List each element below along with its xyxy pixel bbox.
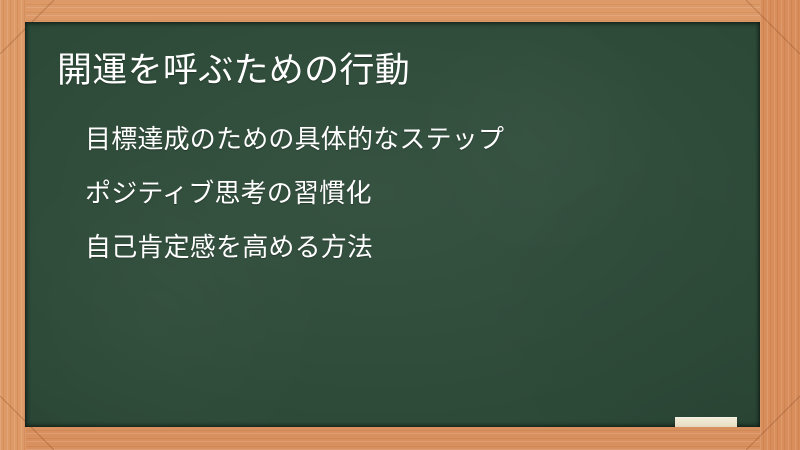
frame-stile-right	[760, 0, 800, 450]
bullet-item-2: ポジティブ思考の習慣化	[85, 180, 504, 206]
slide-title: 開運を呼ぶための行動	[57, 50, 410, 93]
blackboard-slide: 開運を呼ぶための行動 目標達成のための具体的なステップ ポジティブ思考の習慣化 …	[0, 0, 800, 450]
bullet-list: 目標達成のための具体的なステップ ポジティブ思考の習慣化 自己肯定感を高める方法	[85, 126, 504, 288]
frame-rail-top	[0, 0, 800, 24]
bullet-item-3: 自己肯定感を高める方法	[85, 234, 504, 260]
frame-stile-left	[0, 0, 26, 450]
frame-rail-bottom	[0, 425, 800, 450]
chalkboard-surface: 開運を呼ぶための行動 目標達成のための具体的なステップ ポジティブ思考の習慣化 …	[25, 22, 760, 427]
bullet-item-1: 目標達成のための具体的なステップ	[85, 126, 504, 152]
chalk-eraser	[675, 417, 737, 427]
